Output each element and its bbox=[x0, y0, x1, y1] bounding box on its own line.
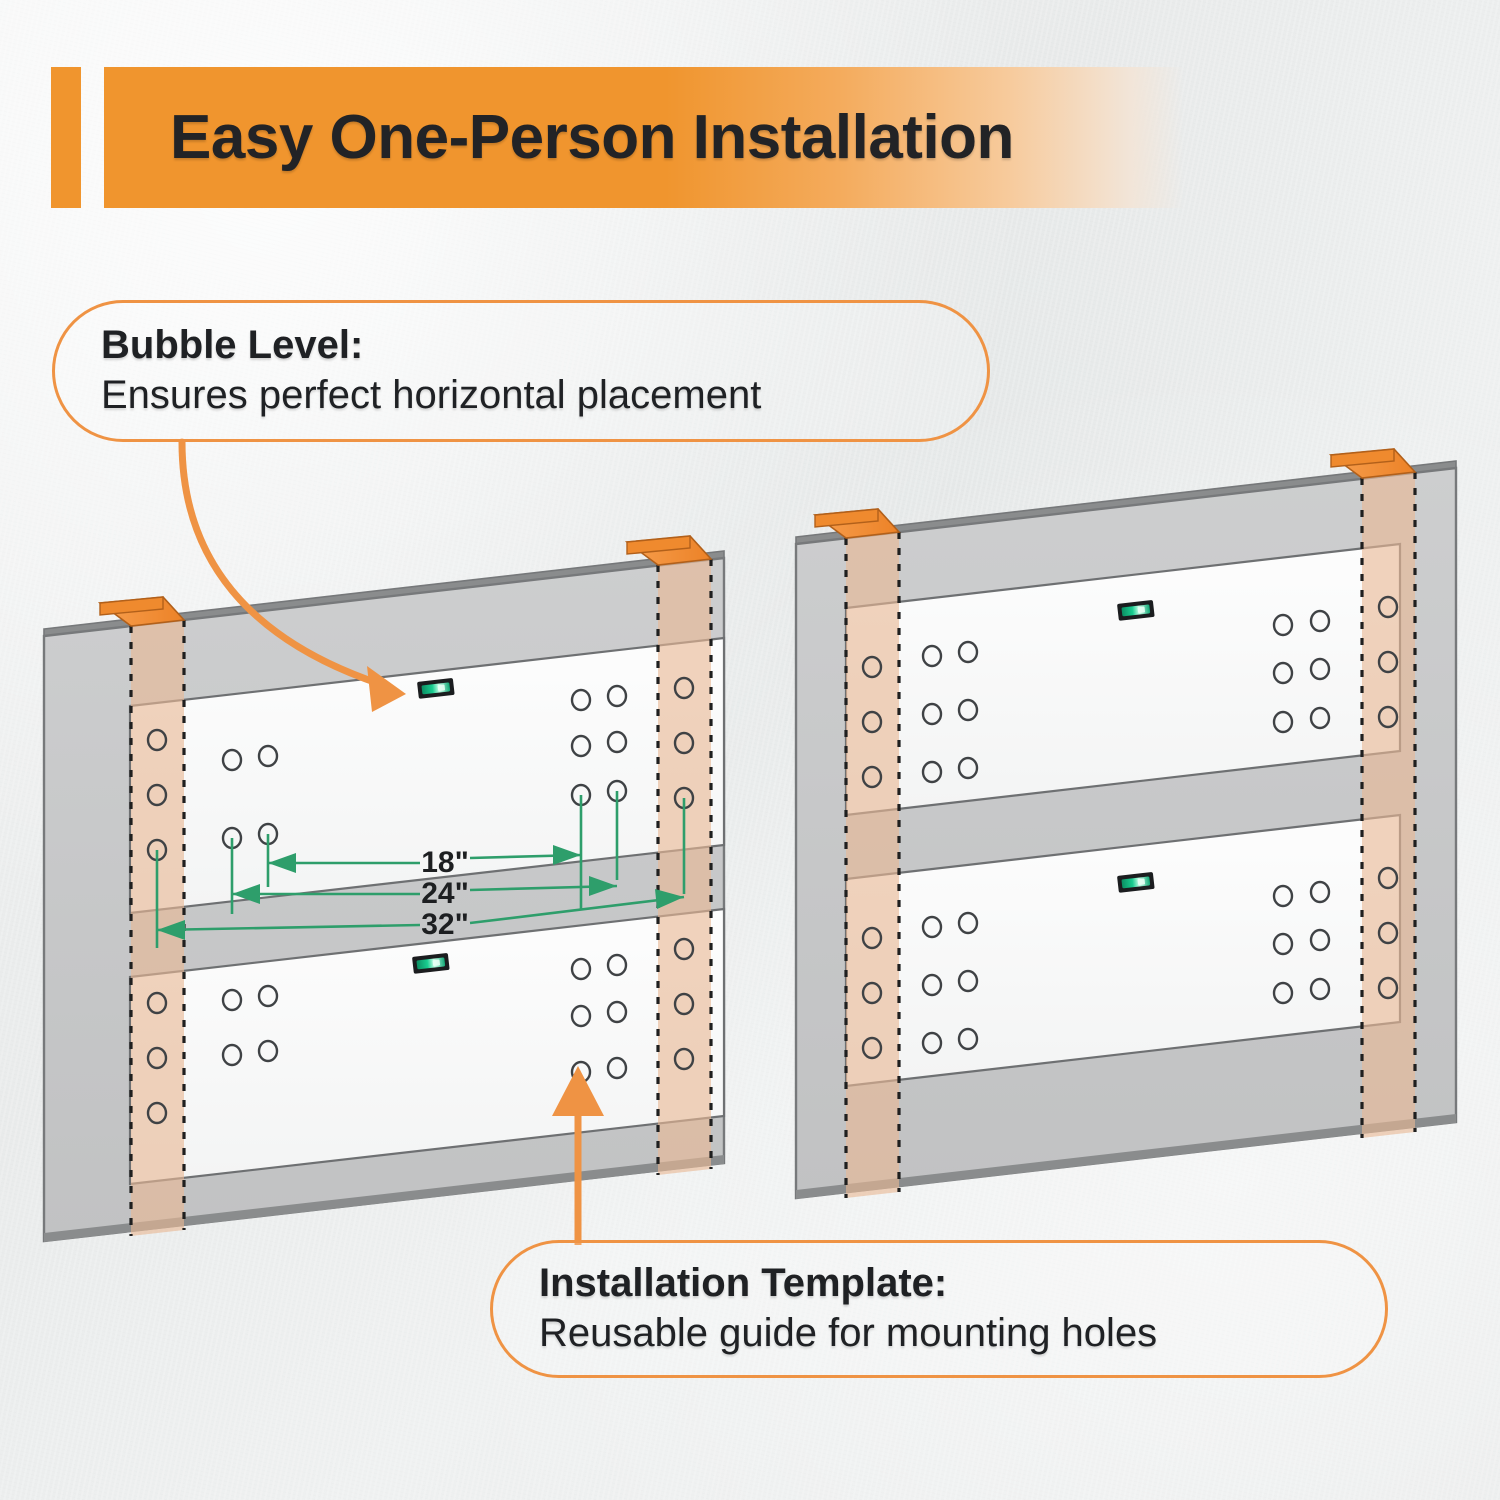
dimension-24in-label: 24" bbox=[421, 877, 469, 910]
callout-bubble-level-body: Ensures perfect horizontal placement bbox=[101, 370, 941, 421]
callout-bubble-level-title: Bubble Level: bbox=[101, 321, 941, 370]
callout-bubble-level[interactable]: Bubble Level: Ensures perfect horizontal… bbox=[52, 300, 990, 442]
dimension-18in-label: 18" bbox=[421, 846, 469, 879]
dimension-32in-label: 32" bbox=[421, 908, 469, 941]
callout-installation-template-body: Reusable guide for mounting holes bbox=[539, 1308, 1157, 1359]
callout-installation-template-title: Installation Template: bbox=[539, 1259, 947, 1308]
callout-installation-template[interactable]: Installation Template: Reusable guide fo… bbox=[490, 1240, 1388, 1378]
